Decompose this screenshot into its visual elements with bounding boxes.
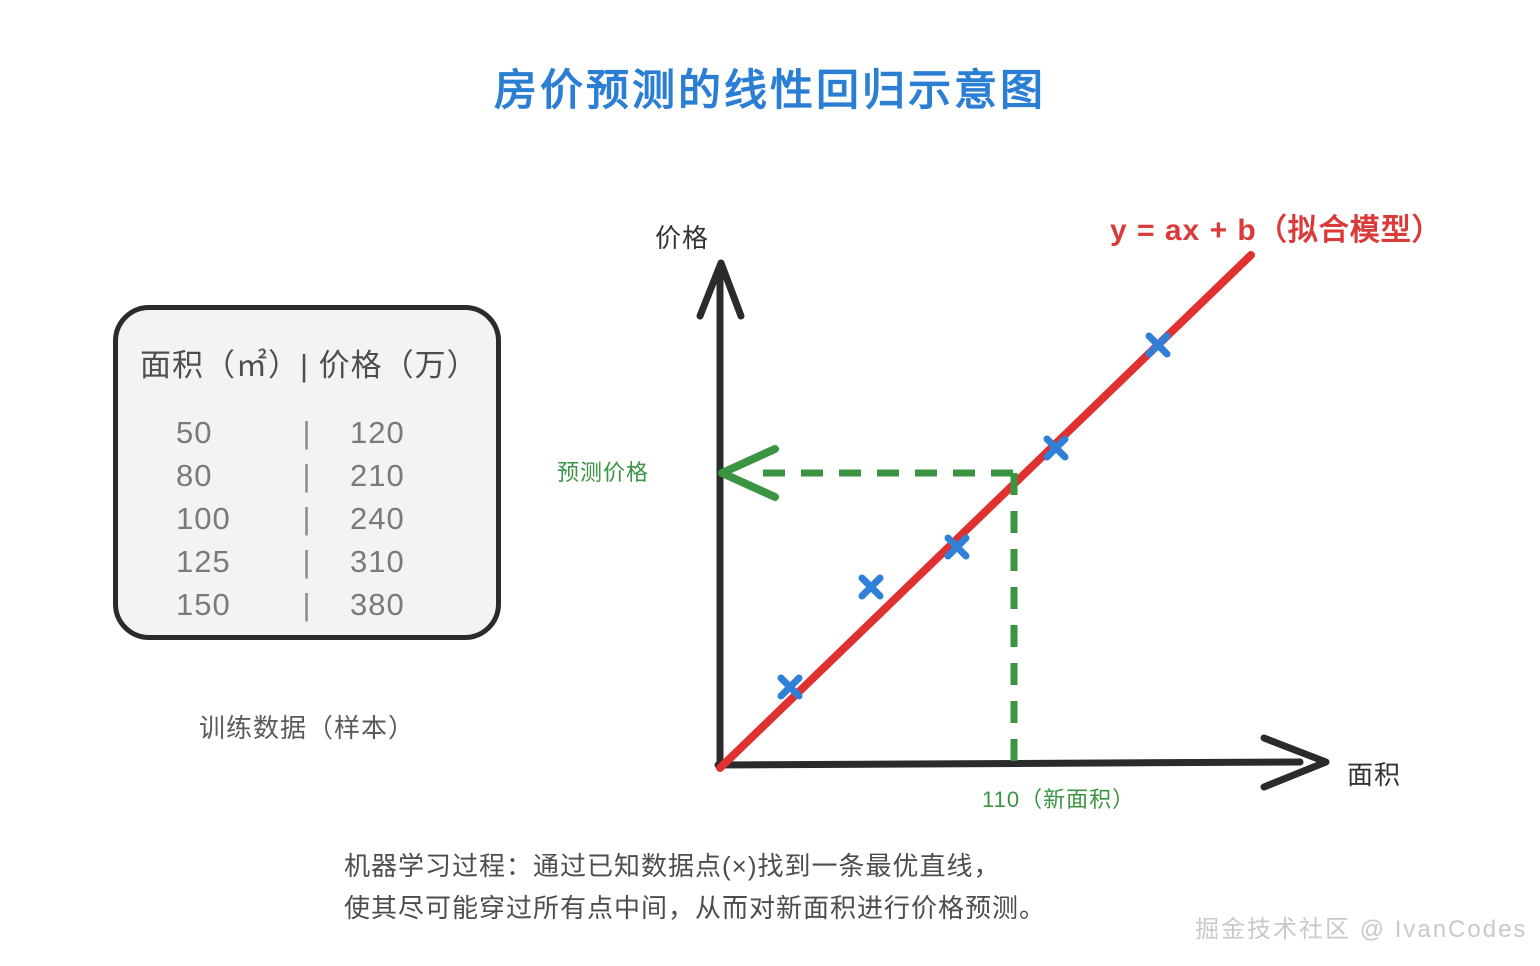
data-point-marker bbox=[862, 578, 880, 596]
new-area-label: 110（新面积） bbox=[982, 782, 1135, 814]
table-row: 80 | 210 bbox=[140, 454, 474, 497]
cell-price: 310 bbox=[324, 540, 474, 583]
cell-area: 150 bbox=[140, 583, 290, 626]
data-point-marker bbox=[781, 678, 799, 696]
training-data-table: 面积（㎡）| 价格（万） 50 | 120 80 | 210 100 | 240… bbox=[118, 310, 496, 635]
training-data-card: 面积（㎡）| 价格（万） 50 | 120 80 | 210 100 | 240… bbox=[113, 305, 501, 640]
cell-price: 210 bbox=[324, 454, 474, 497]
table-row: 150 | 380 bbox=[140, 583, 474, 626]
watermark: 掘金技术社区 @ IvanCodes bbox=[1195, 909, 1527, 944]
training-data-caption: 训练数据（样本） bbox=[113, 708, 501, 745]
data-point-marker bbox=[1149, 336, 1167, 354]
table-row: 50 | 120 bbox=[140, 411, 474, 454]
cell-separator: | bbox=[290, 540, 324, 583]
cell-area: 80 bbox=[140, 454, 290, 497]
cell-separator: | bbox=[290, 583, 324, 626]
cell-separator: | bbox=[290, 454, 324, 497]
cell-area: 100 bbox=[140, 497, 290, 540]
cell-area: 125 bbox=[140, 540, 290, 583]
cell-separator: | bbox=[290, 497, 324, 540]
footer-description: 机器学习过程：通过已知数据点(×)找到一条最优直线， 使其尽可能穿过所有点中间，… bbox=[344, 845, 1046, 929]
cell-price: 380 bbox=[324, 583, 474, 626]
y-axis-label: 价格 bbox=[655, 218, 709, 255]
x-axis-label: 面积 bbox=[1347, 755, 1401, 792]
cell-price: 120 bbox=[324, 411, 474, 454]
footer-line-2: 使其尽可能穿过所有点中间，从而对新面积进行价格预测。 bbox=[344, 887, 1046, 929]
table-header: 面积（㎡）| 价格（万） bbox=[140, 340, 474, 385]
table-row: 100 | 240 bbox=[140, 497, 474, 540]
fit-model-formula-label: y = ax + b（拟合模型） bbox=[1110, 205, 1443, 249]
predicted-price-label: 预测价格 bbox=[557, 455, 649, 487]
fit-line bbox=[720, 255, 1251, 768]
x-axis bbox=[718, 738, 1326, 787]
y-axis bbox=[700, 263, 741, 768]
predicted-price-guide bbox=[722, 449, 1013, 497]
cell-separator: | bbox=[290, 411, 324, 454]
table-row: 125 | 310 bbox=[140, 540, 474, 583]
cell-price: 240 bbox=[324, 497, 474, 540]
cell-area: 50 bbox=[140, 411, 290, 454]
footer-line-1: 机器学习过程：通过已知数据点(×)找到一条最优直线， bbox=[344, 845, 1046, 887]
